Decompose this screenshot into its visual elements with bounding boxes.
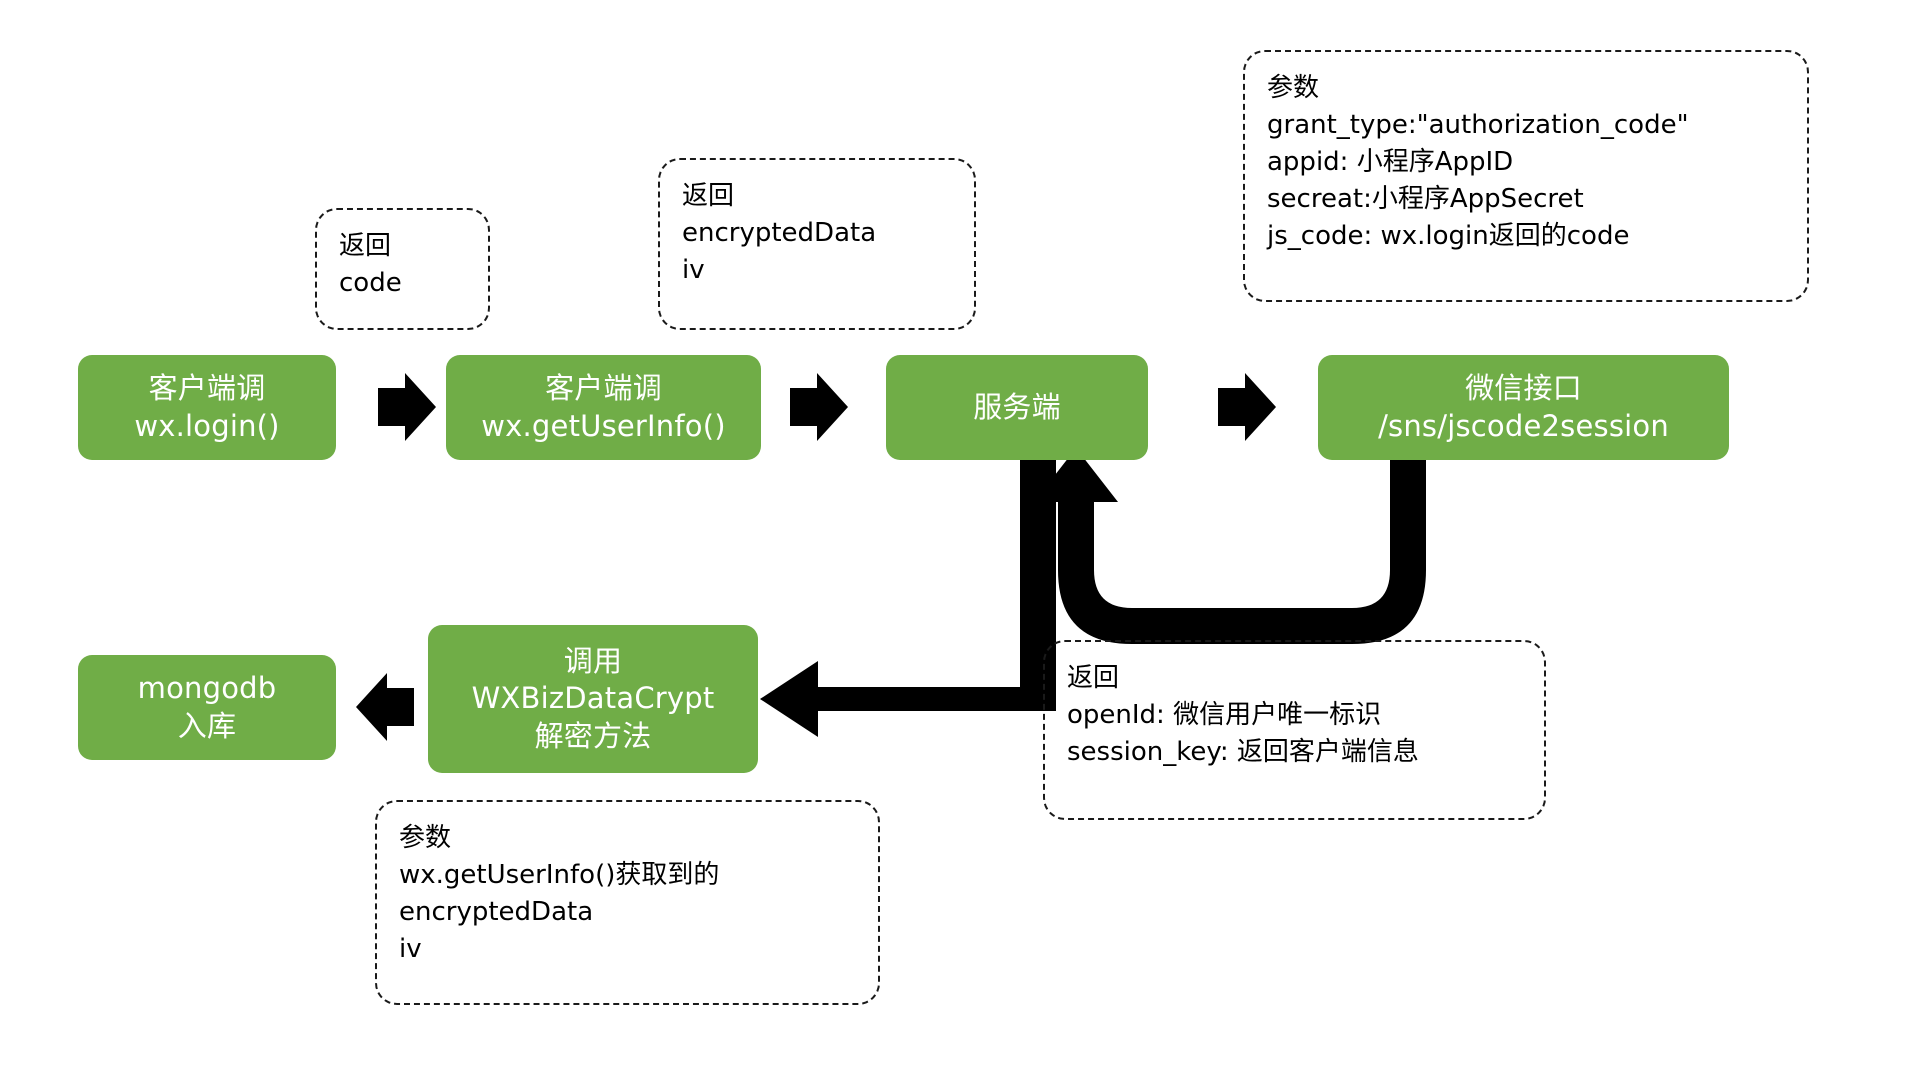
arrow-crypt-to-mongodb	[356, 673, 414, 741]
callout-return-code: 返回 code	[315, 208, 490, 330]
node-wxbizdatacrypt-line3: 解密方法	[535, 718, 652, 755]
callout-return-code-line2: code	[339, 265, 466, 302]
node-wxbizdatacrypt[interactable]: 调用 WXBizDataCrypt 解密方法	[428, 625, 758, 773]
callout-params-jscode2session-line4: secreat:小程序AppSecret	[1267, 181, 1785, 218]
callout-return-openid-line1: 返回	[1067, 660, 1522, 697]
callout-params-wxbizdatacrypt: 参数 wx.getUserInfo()获取到的 encryptedData iv	[375, 800, 880, 1005]
callout-params-jscode2session: 参数 grant_type:"authorization_code" appid…	[1243, 50, 1809, 302]
callout-return-encrypted-line3: iv	[682, 252, 952, 289]
arrow-wechat-api-back-to-server	[1034, 448, 1426, 644]
node-client-getuserinfo-line2: wx.getUserInfo()	[481, 408, 726, 445]
callout-params-wxbizdatacrypt-line4: iv	[399, 931, 856, 968]
arrow-getuserinfo-to-server	[790, 373, 848, 441]
node-client-login-line2: wx.login()	[134, 408, 279, 445]
callout-params-jscode2session-line3: appid: 小程序AppID	[1267, 144, 1785, 181]
callout-return-openid: 返回 openId: 微信用户唯一标识 session_key: 返回客户端信息	[1043, 640, 1546, 820]
node-client-login-line1: 客户端调	[149, 370, 266, 407]
node-mongodb[interactable]: mongodb 入库	[78, 655, 336, 760]
callout-return-encrypted-line1: 返回	[682, 178, 952, 215]
node-mongodb-line1: mongodb	[138, 670, 277, 707]
diagram-canvas: 客户端调 wx.login() 客户端调 wx.getUserInfo() 服务…	[0, 0, 1920, 1080]
node-client-getuserinfo[interactable]: 客户端调 wx.getUserInfo()	[446, 355, 761, 460]
callout-return-openid-line2: openId: 微信用户唯一标识	[1067, 697, 1522, 734]
arrow-server-down-to-crypt	[760, 460, 1056, 737]
callout-params-jscode2session-line1: 参数	[1267, 70, 1785, 107]
node-client-getuserinfo-line1: 客户端调	[545, 370, 662, 407]
node-server-line1: 服务端	[973, 389, 1061, 426]
node-client-login[interactable]: 客户端调 wx.login()	[78, 355, 336, 460]
callout-params-jscode2session-line2: grant_type:"authorization_code"	[1267, 107, 1785, 144]
callout-return-encrypted: 返回 encryptedData iv	[658, 158, 976, 330]
arrow-login-to-getuserinfo	[378, 373, 436, 441]
callout-params-wxbizdatacrypt-line3: encryptedData	[399, 894, 856, 931]
callout-return-code-line1: 返回	[339, 228, 466, 265]
node-wechat-api-line1: 微信接口	[1465, 370, 1582, 407]
node-wechat-api-line2: /sns/jscode2session	[1378, 408, 1669, 445]
node-wxbizdatacrypt-line2: WXBizDataCrypt	[472, 680, 715, 717]
node-server[interactable]: 服务端	[886, 355, 1148, 460]
node-wxbizdatacrypt-line1: 调用	[564, 643, 622, 680]
callout-params-jscode2session-line5: js_code: wx.login返回的code	[1267, 218, 1785, 255]
node-wechat-api[interactable]: 微信接口 /sns/jscode2session	[1318, 355, 1729, 460]
callout-return-encrypted-line2: encryptedData	[682, 215, 952, 252]
arrow-server-to-wechat-api	[1218, 373, 1276, 441]
node-mongodb-line2: 入库	[178, 708, 236, 745]
callout-params-wxbizdatacrypt-line1: 参数	[399, 820, 856, 857]
callout-return-openid-line3: session_key: 返回客户端信息	[1067, 734, 1522, 771]
callout-params-wxbizdatacrypt-line2: wx.getUserInfo()获取到的	[399, 857, 856, 894]
